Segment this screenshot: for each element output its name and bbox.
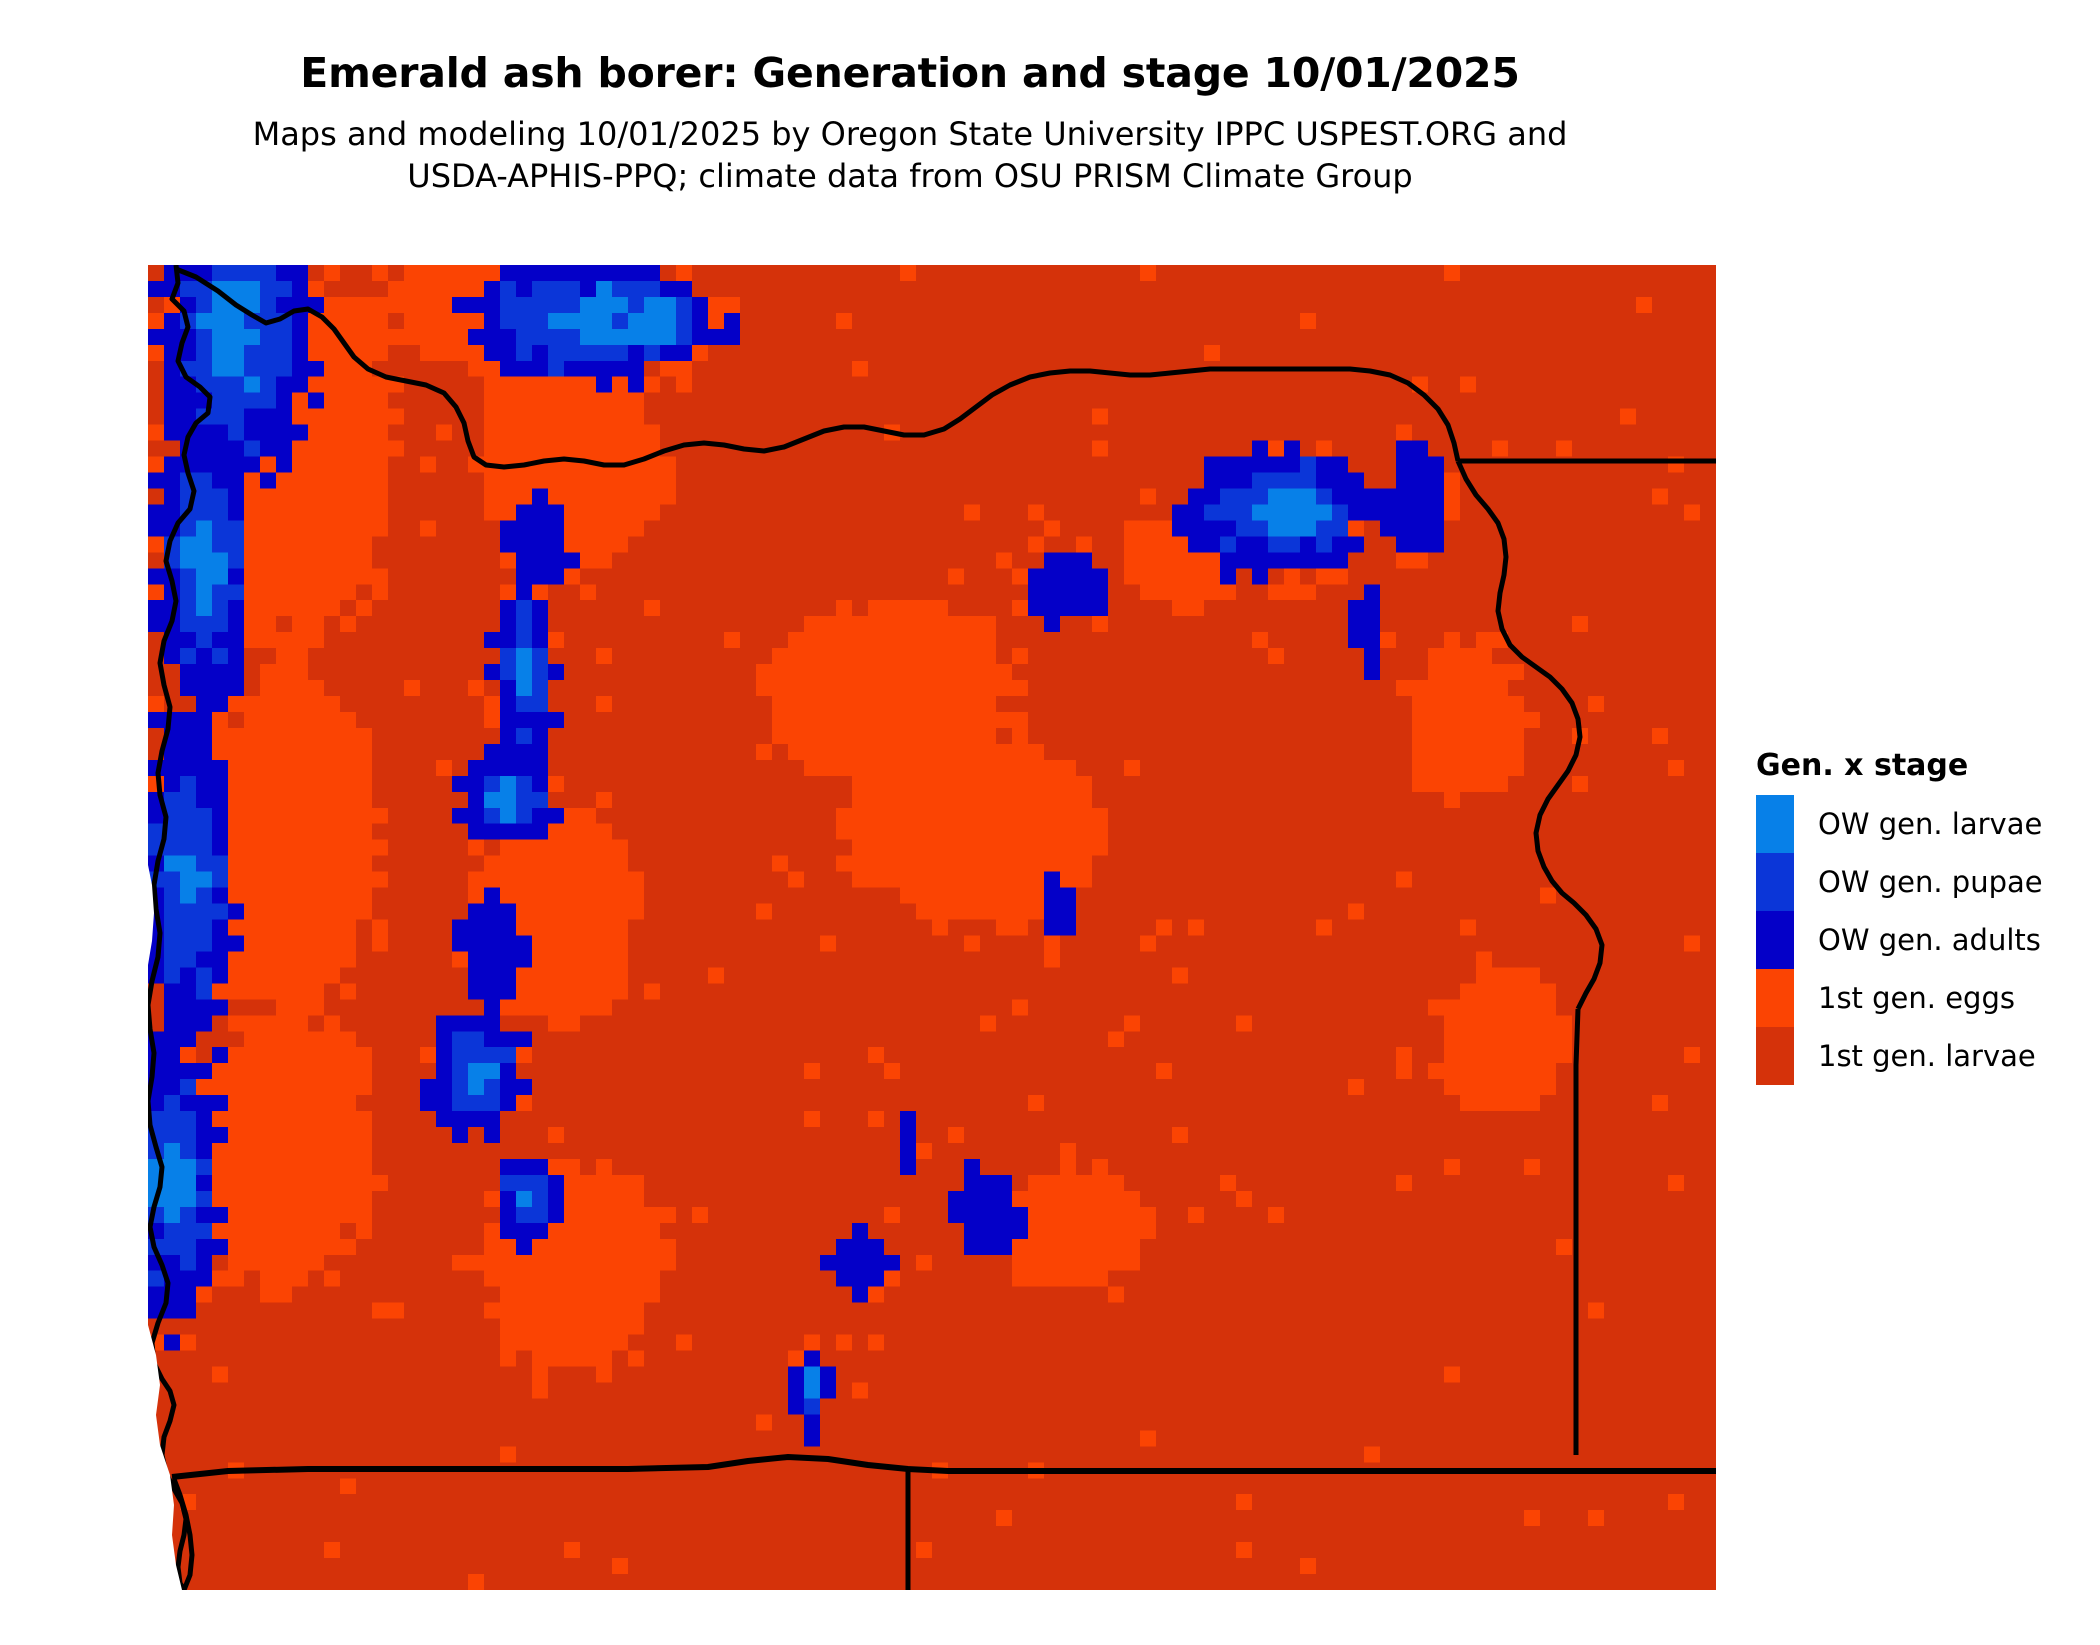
map-raster-panel bbox=[148, 265, 1716, 1590]
legend-swatch-column bbox=[1756, 795, 1794, 1085]
subtitle-line-2: USDA-APHIS-PPQ; climate data from OSU PR… bbox=[0, 155, 1820, 197]
legend-swatch-3 bbox=[1756, 969, 1794, 1027]
figure-root: Emerald ash borer: Generation and stage … bbox=[0, 0, 2100, 1645]
legend-label-4: 1st gen. larvae bbox=[1818, 1027, 2043, 1085]
legend-label-3: 1st gen. eggs bbox=[1818, 969, 2043, 1027]
legend-body: OW gen. larvaeOW gen. pupaeOW gen. adult… bbox=[1756, 795, 2086, 1085]
figure-header: Emerald ash borer: Generation and stage … bbox=[0, 0, 1820, 198]
ocean-polygon bbox=[148, 865, 182, 1590]
subtitle-line-1: Maps and modeling 10/01/2025 by Oregon S… bbox=[0, 113, 1820, 155]
legend-label-2: OW gen. adults bbox=[1818, 911, 2043, 969]
ocean-white-mask bbox=[148, 265, 1716, 1590]
map-legend: Gen. x stage OW gen. larvaeOW gen. pupae… bbox=[1756, 748, 2086, 1085]
page-title: Emerald ash borer: Generation and stage … bbox=[0, 52, 1820, 95]
legend-label-0: OW gen. larvae bbox=[1818, 795, 2043, 853]
legend-swatch-0 bbox=[1756, 795, 1794, 853]
legend-swatch-2 bbox=[1756, 911, 1794, 969]
legend-label-column: OW gen. larvaeOW gen. pupaeOW gen. adult… bbox=[1818, 795, 2043, 1085]
figure-subtitle: Maps and modeling 10/01/2025 by Oregon S… bbox=[0, 113, 1820, 197]
legend-title: Gen. x stage bbox=[1756, 748, 2086, 783]
legend-label-1: OW gen. pupae bbox=[1818, 853, 2043, 911]
legend-swatch-4 bbox=[1756, 1027, 1794, 1085]
legend-swatch-1 bbox=[1756, 853, 1794, 911]
